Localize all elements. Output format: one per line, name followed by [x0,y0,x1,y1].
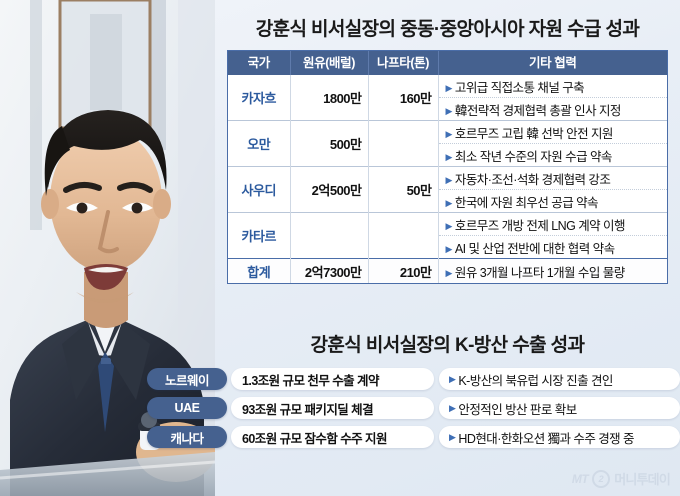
cooperation-text: 자동차·조선·석화 경제협력 강조 [455,173,610,187]
table-row: 카자흐 1800만 160만 ▶고위급 직접소통 채널 구축 [228,75,667,98]
content-panel: 강훈식 비서실장의 중동·중앙아시아 자원 수급 성과 국가 원유(배럴) 나프… [215,0,680,496]
amount-pill: 60조원 규모 잠수함 수주 지원 [231,426,434,448]
table-row: 사우디 2억500만 50만 ▶자동차·조선·석화 경제협력 강조 [228,167,667,190]
cell-cooperation: ▶최소 작년 수준의 자원 수급 약속 [438,144,667,167]
cell-naphtha [368,121,438,167]
cell-cooperation: ▶고위급 직접소통 채널 구축 [438,75,667,98]
note-pill: ▶HD현대·한화오션 獨과 수주 경쟁 중 [439,426,680,448]
bullet-icon: ▶ [446,83,452,93]
sub-title: 강훈식 비서실장의 K-방산 수출 성과 [215,330,680,357]
col-header-naphtha: 나프타(톤) [368,51,438,75]
logo-name-text: 머니투데이 [614,469,670,488]
country-badge: 노르웨이 [147,368,227,390]
cell-cooperation: ▶호르무즈 개방 전제 LNG 계약 이행 [438,213,667,236]
country-badge: UAE [147,397,227,419]
bullet-icon: ▶ [449,374,455,385]
bullet-icon: ▶ [446,244,452,254]
cooperation-text: 최소 작년 수준의 자원 수급 약속 [455,150,612,164]
cooperation-text: 호르무즈 고립 韓 선박 안전 지원 [455,127,613,141]
logo-mt-text: MT [572,472,588,486]
cooperation-text: 호르무즈 개방 전제 LNG 계약 이행 [455,219,625,233]
cell-oil [290,213,368,259]
list-item: 노르웨이 1.3조원 규모 천무 수출 계약 ▶K-방산의 북유럽 시장 진출 … [147,366,680,392]
cell-total-note: ▶원유 3개월 나프타 1개월 수입 물량 [438,259,667,284]
amount-pill: 93조원 규모 패키지딜 체결 [231,397,434,419]
logo-circle-icon: 2 [592,470,610,488]
list-item: 캐나다 60조원 규모 잠수함 수주 지원 ▶HD현대·한화오션 獨과 수주 경… [147,424,680,450]
main-title: 강훈식 비서실장의 중동·중앙아시아 자원 수급 성과 [215,14,680,41]
resource-table-wrapper: 국가 원유(배럴) 나프타(톤) 기타 협력 카자흐 1800만 160만 ▶고… [227,50,668,284]
publisher-logo: MT 2 머니투데이 [572,469,670,488]
cell-oil: 1800만 [290,75,368,121]
amount-pill: 1.3조원 규모 천무 수출 계약 [231,368,434,390]
cell-naphtha [368,213,438,259]
cell-country: 사우디 [228,167,290,213]
bullet-icon: ▶ [449,403,455,414]
cell-oil: 500만 [290,121,368,167]
cell-oil: 2억500만 [290,167,368,213]
cell-naphtha: 50만 [368,167,438,213]
bullet-icon: ▶ [446,106,452,116]
table-row: 카타르 ▶호르무즈 개방 전제 LNG 계약 이행 [228,213,667,236]
cell-country: 카자흐 [228,75,290,121]
cell-cooperation: ▶자동차·조선·석화 경제협력 강조 [438,167,667,190]
bullet-icon: ▶ [446,152,452,162]
cooperation-text: 韓전략적 경제협력 총괄 인사 지정 [455,104,621,118]
cell-cooperation: ▶韓전략적 경제협력 총괄 인사 지정 [438,98,667,121]
bullet-icon: ▶ [446,175,452,185]
cell-country: 카타르 [228,213,290,259]
cell-naphtha: 160만 [368,75,438,121]
note-pill: ▶K-방산의 북유럽 시장 진출 견인 [439,368,680,390]
infographic-root: 강훈식 비서실장의 중동·중앙아시아 자원 수급 성과 국가 원유(배럴) 나프… [0,0,680,496]
total-note-text: 원유 3개월 나프타 1개월 수입 물량 [455,266,625,280]
table-header-row: 국가 원유(배럴) 나프타(톤) 기타 협력 [228,51,667,75]
country-badge: 캐나다 [147,426,227,448]
cell-cooperation: ▶한국에 자원 최우선 공급 약속 [438,190,667,213]
cooperation-text: 한국에 자원 최우선 공급 약속 [455,196,598,210]
bullet-icon: ▶ [449,432,455,443]
note-text: 안정적인 방산 판로 확보 [458,399,576,418]
note-pill: ▶안정적인 방산 판로 확보 [439,397,680,419]
defense-export-list: 노르웨이 1.3조원 규모 천무 수출 계약 ▶K-방산의 북유럽 시장 진출 … [147,366,680,453]
bullet-icon: ▶ [446,198,452,208]
resource-table: 국가 원유(배럴) 나프타(톤) 기타 협력 카자흐 1800만 160만 ▶고… [228,51,667,283]
cell-cooperation: ▶호르무즈 고립 韓 선박 안전 지원 [438,121,667,144]
col-header-cooperation: 기타 협력 [438,51,667,75]
note-text: K-방산의 북유럽 시장 진출 견인 [458,370,613,389]
bullet-icon: ▶ [446,268,452,278]
cooperation-text: 고위급 직접소통 채널 구축 [455,81,584,95]
list-item: UAE 93조원 규모 패키지딜 체결 ▶안정적인 방산 판로 확보 [147,395,680,421]
bullet-icon: ▶ [446,129,452,139]
cooperation-text: AI 및 산업 전반에 대한 협력 약속 [455,242,615,256]
cell-cooperation: ▶AI 및 산업 전반에 대한 협력 약속 [438,236,667,259]
note-text: HD현대·한화오션 獨과 수주 경쟁 중 [458,428,634,447]
cell-total-label: 합계 [228,259,290,284]
table-row: 오만 500만 ▶호르무즈 고립 韓 선박 안전 지원 [228,121,667,144]
cell-country: 오만 [228,121,290,167]
cell-total-oil: 2억7300만 [290,259,368,284]
table-total-row: 합계 2억7300만 210만 ▶원유 3개월 나프타 1개월 수입 물량 [228,259,667,284]
bullet-icon: ▶ [446,221,452,231]
cell-total-naphtha: 210만 [368,259,438,284]
col-header-oil: 원유(배럴) [290,51,368,75]
col-header-country: 국가 [228,51,290,75]
